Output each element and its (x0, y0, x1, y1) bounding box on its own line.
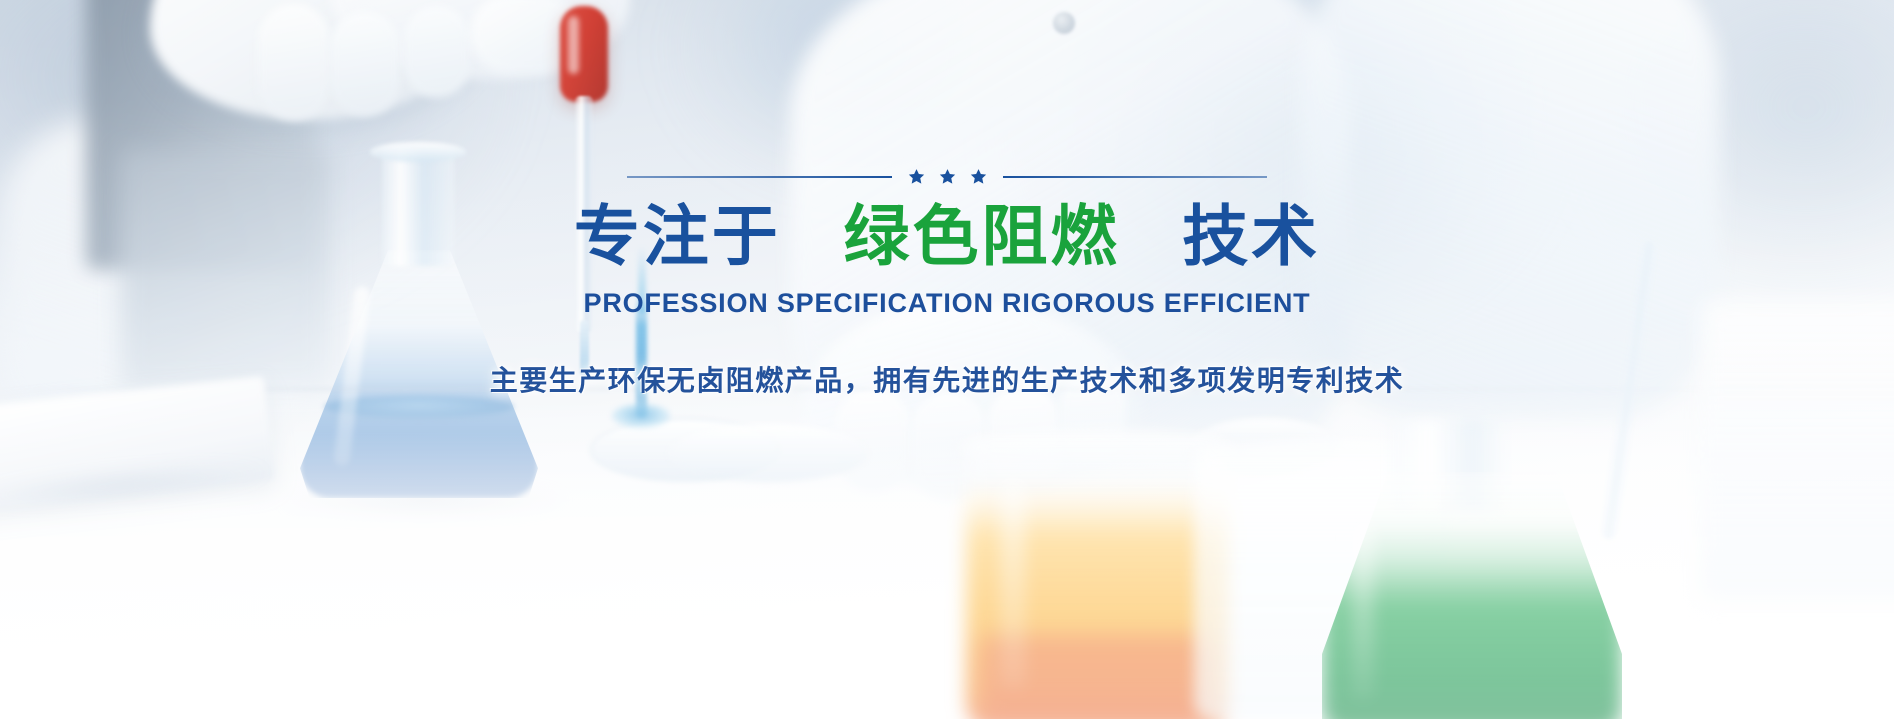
pipette-bulb-highlight (568, 16, 579, 74)
glove-finger-icon (258, 4, 330, 120)
coat-button-icon (1053, 12, 1075, 34)
green-flask-highlight (1352, 520, 1374, 700)
petri-dish-icon (668, 424, 868, 482)
star-icon (939, 168, 956, 185)
divider-line-left (627, 176, 892, 178)
headline-part-2: 绿色阻燃 (844, 199, 1120, 273)
star-group (908, 168, 987, 185)
glove-finger-icon (330, 12, 400, 116)
hero-banner: 专注于 绿色阻燃 技术 PROFESSION SPECIFICATION RIG… (0, 0, 1894, 719)
glove-finger-icon (404, 6, 470, 98)
page-title: 专注于 绿色阻燃 技术 (574, 201, 1320, 272)
banner-subtitle: PROFESSION SPECIFICATION RIGOROUS EFFICI… (584, 288, 1311, 319)
banner-tagline: 主要生产环保无卤阻燃产品，拥有先进的生产技术和多项发明专利技术 (490, 359, 1405, 399)
decorative-divider (627, 168, 1267, 185)
headline-part-1: 专注于 (574, 199, 781, 273)
star-icon (908, 168, 925, 185)
orange-beaker-highlight (1000, 480, 1026, 690)
divider-line-right (1003, 176, 1268, 178)
liquid-pool (612, 404, 670, 428)
banner-content: 专注于 绿色阻燃 技术 PROFESSION SPECIFICATION RIG… (0, 168, 1894, 399)
headline-part-3: 技术 (1182, 199, 1320, 273)
star-icon (970, 168, 987, 185)
flask-lip-icon (370, 142, 466, 162)
